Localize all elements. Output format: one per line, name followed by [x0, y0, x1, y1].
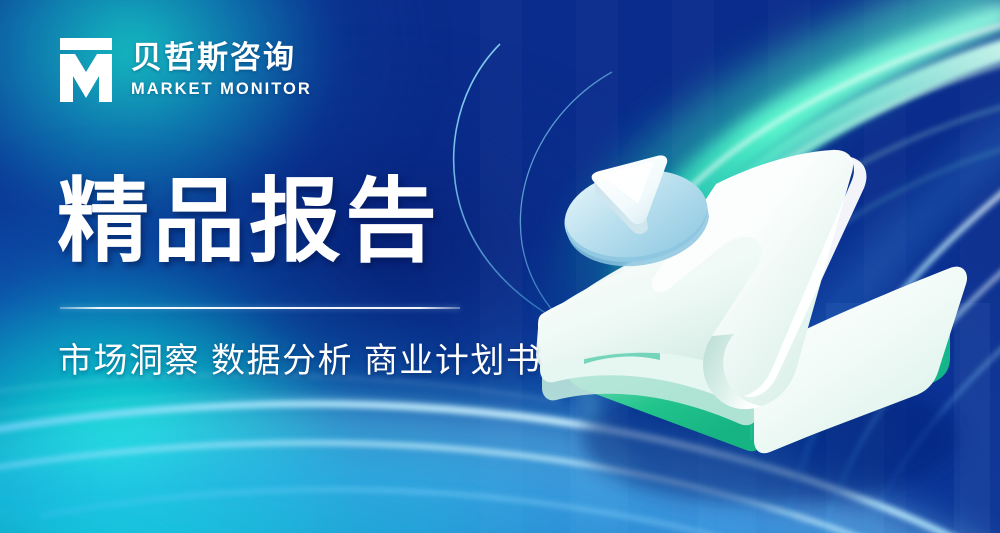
- brand-logo-text: 贝哲斯咨询 MARKET MONITOR: [131, 41, 312, 98]
- page-title: 精品报告: [57, 176, 441, 268]
- brand-name-cn: 贝哲斯咨询: [131, 41, 312, 74]
- premium-report-banner: 贝哲斯咨询 MARKET MONITOR 精品报告 市场洞察 数据分析 商业计划…: [0, 0, 1000, 533]
- headline-divider: [60, 307, 460, 309]
- market-monitor-m-icon: [57, 36, 115, 104]
- open-book-illustration: [520, 120, 990, 520]
- brand-logo[interactable]: 贝哲斯咨询 MARKET MONITOR: [57, 36, 312, 104]
- page-subtitle: 市场洞察 数据分析 商业计划书: [58, 333, 541, 382]
- brand-name-en: MARKET MONITOR: [131, 80, 312, 99]
